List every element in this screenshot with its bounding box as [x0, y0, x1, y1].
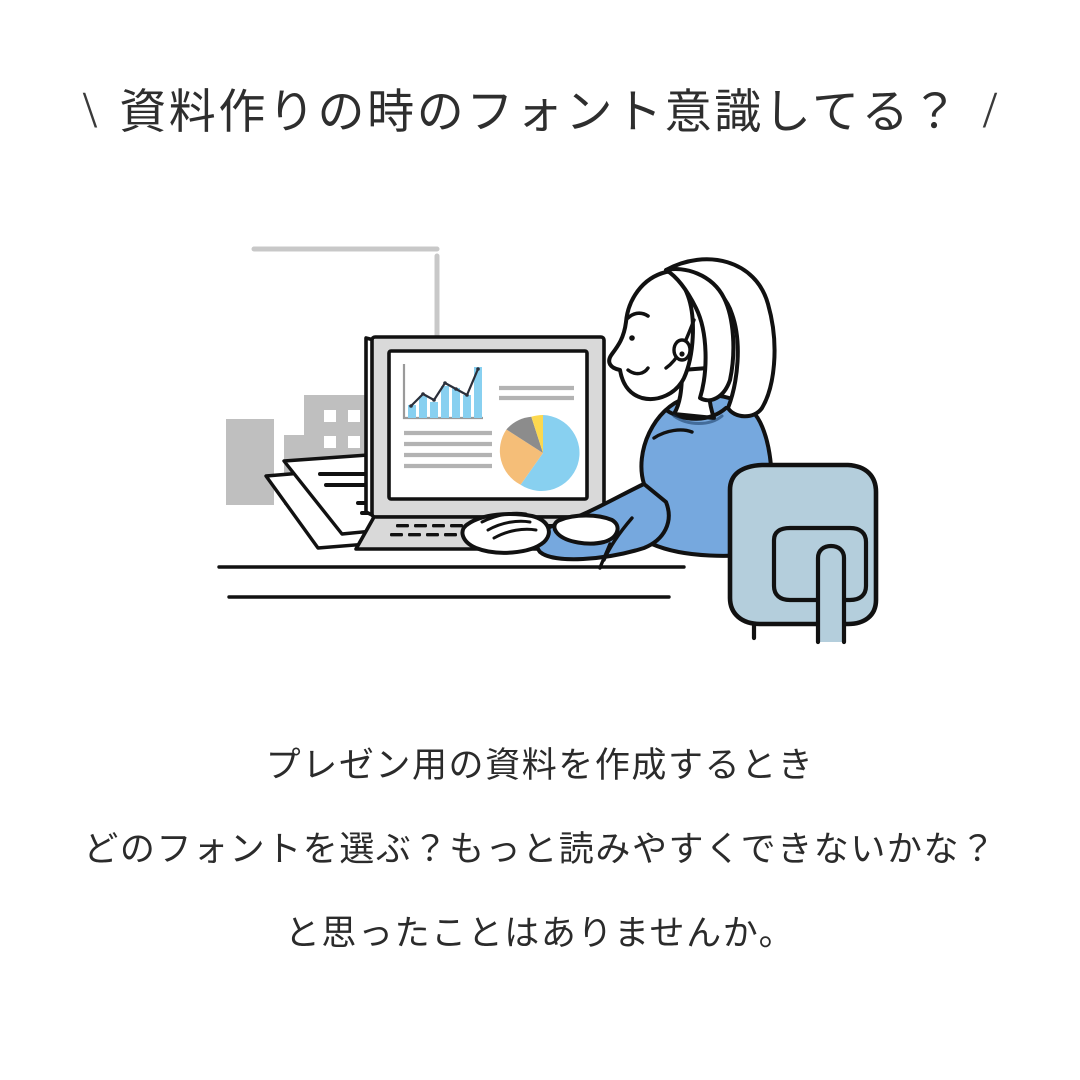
slash-right-decoration: /: [983, 85, 997, 137]
page-title: \ 資料作りの時のフォント意識してる？ /: [0, 86, 1080, 140]
body-copy: プレゼン用の資料を作成するとき どのフォントを選ぶ？もっと読みやすくできないかな…: [0, 748, 1080, 951]
slide-canvas: \ 資料作りの時のフォント意識してる？ /: [0, 0, 1080, 1080]
body-line-2: どのフォントを選ぶ？もっと読みやすくできないかな？: [0, 832, 1080, 867]
slash-left-decoration: \: [83, 85, 97, 137]
body-line-3: と思ったことはありませんか。: [0, 916, 1080, 951]
body-line-1: プレゼン用の資料を作成するとき: [0, 748, 1080, 783]
office-chair-icon: [730, 465, 876, 642]
desk-edge: [219, 567, 684, 597]
title-text: 資料作りの時のフォント意識してる？: [119, 86, 961, 140]
illustration-woman-working-at-laptop: [214, 222, 894, 692]
